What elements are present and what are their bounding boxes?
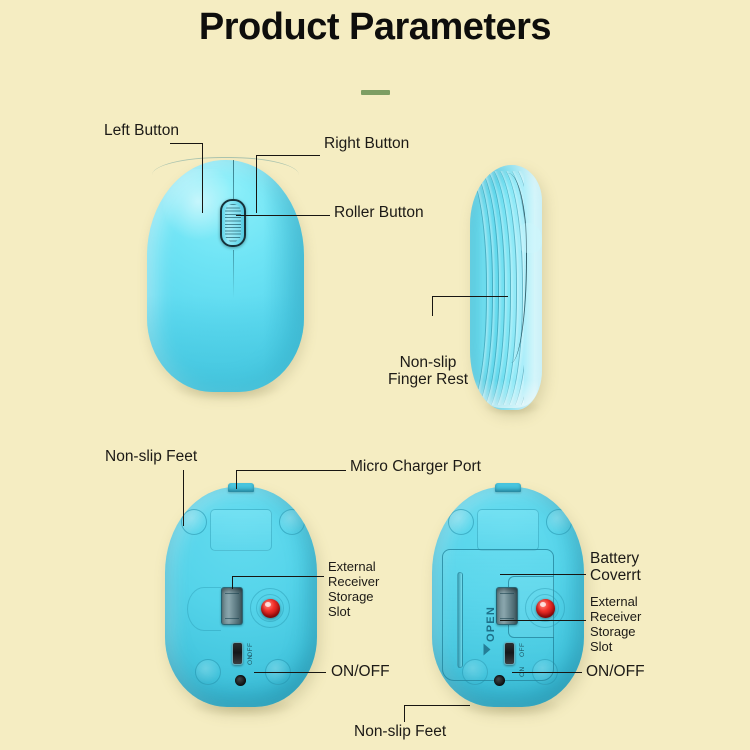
bl-foot-bottom-left bbox=[195, 659, 221, 685]
br-foot-top-right bbox=[546, 509, 572, 535]
leader-right-button-h bbox=[256, 155, 320, 156]
leader-non-slip-feet-bottom-v bbox=[404, 705, 405, 722]
side-body bbox=[470, 165, 542, 410]
label-external-receiver-slot-left: External Receiver Storage Slot bbox=[328, 559, 379, 619]
mouse-side-view bbox=[470, 165, 542, 410]
scroll-wheel bbox=[220, 199, 246, 247]
top-bottom-shading bbox=[147, 295, 304, 392]
label-non-slip-feet-top: Non-slip Feet bbox=[105, 449, 197, 466]
label-battery-coverrt: Battery Coverrt bbox=[590, 551, 641, 584]
bl-switch-off-label: OFF bbox=[247, 643, 254, 658]
leader-ext-receiver-left-v bbox=[232, 576, 233, 589]
br-center-hole bbox=[494, 675, 505, 686]
product-parameters-infographic: Product Parameters Left Button Right But… bbox=[0, 0, 750, 750]
label-on-off-left: ON/OFF bbox=[331, 664, 390, 681]
mouse-bottom-view-right: OPEN OFF ON bbox=[432, 487, 584, 707]
leader-on-off-right bbox=[512, 672, 582, 673]
leader-ext-receiver-right bbox=[500, 620, 586, 621]
label-non-slip-finger-rest: Non-slip Finger Rest bbox=[382, 322, 474, 421]
bl-thumb-recess bbox=[187, 587, 221, 631]
side-button-lip bbox=[516, 223, 542, 253]
leader-micro-charger-v bbox=[236, 470, 237, 489]
label-right-button: Right Button bbox=[324, 136, 409, 153]
title-underline-rule bbox=[361, 90, 390, 95]
br-optical-sensor bbox=[536, 599, 555, 618]
mouse-bottom-view-left: ON OFF bbox=[165, 487, 317, 707]
page-title: Product Parameters bbox=[0, 6, 750, 49]
br-foot-top-left bbox=[448, 509, 474, 535]
leader-left-button-h bbox=[170, 143, 203, 144]
label-micro-charger-port: Micro Charger Port bbox=[350, 459, 481, 476]
leader-roller-button bbox=[236, 215, 330, 216]
br-label-plate bbox=[477, 509, 539, 551]
leader-non-slip-feet-bottom-h bbox=[404, 705, 470, 706]
leader-finger-rest-h bbox=[432, 296, 508, 297]
mouse-top-view bbox=[147, 160, 304, 392]
leader-left-button-v bbox=[202, 143, 203, 213]
label-left-button: Left Button bbox=[104, 123, 179, 140]
label-roller-button: Roller Button bbox=[334, 205, 424, 222]
button-split-line-lower bbox=[233, 250, 234, 298]
br-switch-off-label: OFF bbox=[519, 643, 526, 658]
label-on-off-right: ON/OFF bbox=[586, 664, 645, 681]
scroll-wheel-ridges bbox=[225, 204, 241, 242]
bl-label-plate bbox=[210, 509, 272, 551]
leader-on-off-left bbox=[254, 672, 326, 673]
bl-foot-top-left bbox=[181, 509, 207, 535]
leader-battery-cover bbox=[500, 574, 586, 575]
br-on-off-switch[interactable] bbox=[504, 642, 515, 665]
bl-optical-sensor bbox=[261, 599, 280, 618]
label-non-slip-feet-bottom: Non-slip Feet bbox=[354, 724, 446, 741]
label-external-receiver-slot-right: External Receiver Storage Slot bbox=[590, 594, 641, 654]
br-battery-cover-groove bbox=[457, 572, 463, 668]
label-non-slip-finger-rest-line1: Non-slip Finger Rest bbox=[382, 355, 474, 388]
br-open-arrow-icon bbox=[484, 644, 491, 656]
br-micro-charger-port bbox=[495, 483, 521, 492]
leader-non-slip-feet-top-v bbox=[183, 470, 184, 526]
bl-micro-charger-port bbox=[228, 483, 254, 492]
leader-micro-charger-h bbox=[236, 470, 346, 471]
bl-on-off-switch[interactable] bbox=[232, 642, 243, 665]
bl-foot-top-right bbox=[279, 509, 305, 535]
leader-finger-rest-v bbox=[432, 296, 433, 316]
leader-right-button-v bbox=[256, 155, 257, 213]
leader-ext-receiver-left-h bbox=[232, 576, 324, 577]
bl-external-receiver-slot bbox=[221, 587, 243, 625]
bl-center-hole bbox=[235, 675, 246, 686]
